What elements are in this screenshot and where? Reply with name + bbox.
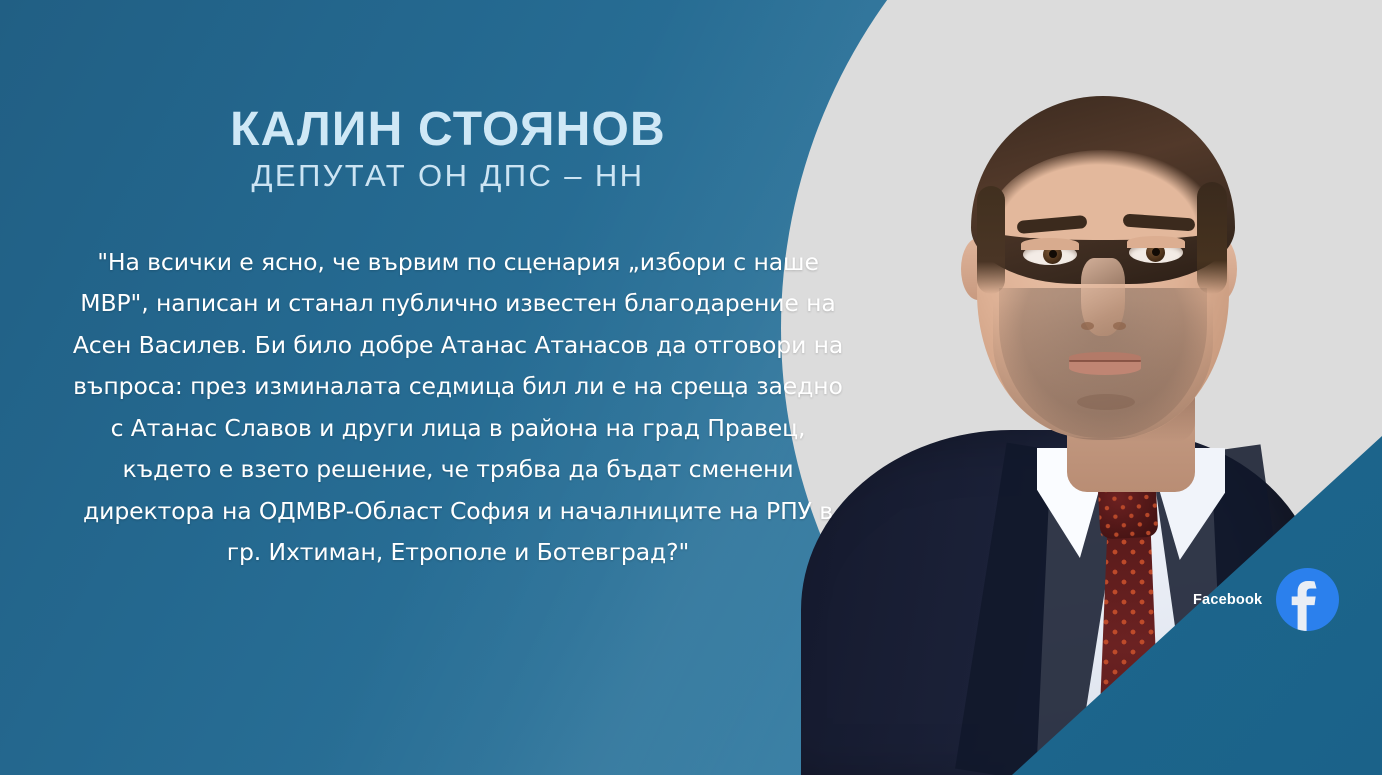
source-label: Facebook [1193,592,1262,608]
quote-card: КАЛИН СТОЯНОВ ДЕПУТАТ ОН ДПС – НН "На вс… [0,0,1382,775]
quote-text: "На всички е ясно, че вървим по сценария… [66,242,850,574]
facebook-icon[interactable] [1276,568,1339,631]
person-name: КАЛИН СТОЯНОВ [0,106,896,154]
headline-block: КАЛИН СТОЯНОВ ДЕПУТАТ ОН ДПС – НН [0,106,896,191]
person-role: ДЕПУТАТ ОН ДПС – НН [0,160,896,191]
source-badge[interactable]: Facebook [1193,568,1339,631]
